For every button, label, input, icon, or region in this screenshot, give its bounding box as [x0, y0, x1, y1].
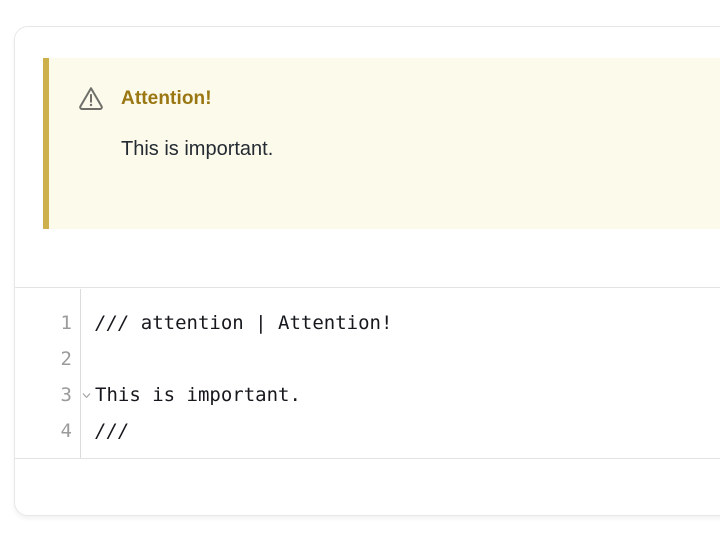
line-number: 4	[61, 422, 72, 441]
code-line[interactable]: /// attention | Attention!	[95, 305, 720, 341]
warning-triangle-icon	[77, 84, 105, 112]
card-footer	[15, 459, 720, 515]
gutter-row: 3	[15, 377, 80, 413]
admonition-attention: Attention! This is important.	[43, 58, 720, 229]
gutter-row: 2	[15, 341, 80, 377]
admonition-body: Attention! This is important.	[49, 58, 720, 229]
code-text: This is important.	[95, 384, 301, 406]
admonition-text: This is important.	[121, 136, 720, 163]
preview-pane: Attention! This is important.	[15, 27, 720, 288]
code-line[interactable]: ///	[95, 413, 720, 449]
code-pane[interactable]: 1 2 3 4 /// atten	[15, 289, 720, 459]
code-editor[interactable]: 1 2 3 4 /// atten	[15, 289, 720, 459]
chevron-down-icon[interactable]	[81, 390, 92, 401]
screenshot-root: Attention! This is important. 1 2 3	[0, 0, 720, 544]
line-number: 3	[61, 386, 72, 405]
code-line[interactable]	[95, 341, 720, 377]
gutter-row: 4	[15, 413, 80, 449]
gutter-row: 1	[15, 305, 80, 341]
fence-token: ///	[95, 312, 129, 334]
admonition-title: Attention!	[121, 89, 212, 108]
admonition-demo-card: Attention! This is important. 1 2 3	[14, 26, 720, 516]
line-number: 2	[61, 350, 72, 369]
fence-token: ///	[95, 420, 129, 442]
code-lines[interactable]: /// attention | Attention! This is impor…	[95, 289, 720, 449]
admonition-title-row: Attention!	[77, 82, 720, 114]
code-gutter: 1 2 3 4	[15, 289, 81, 459]
code-text: attention | Attention!	[129, 312, 392, 334]
line-number: 1	[61, 314, 72, 333]
code-line[interactable]: This is important.	[95, 377, 720, 413]
